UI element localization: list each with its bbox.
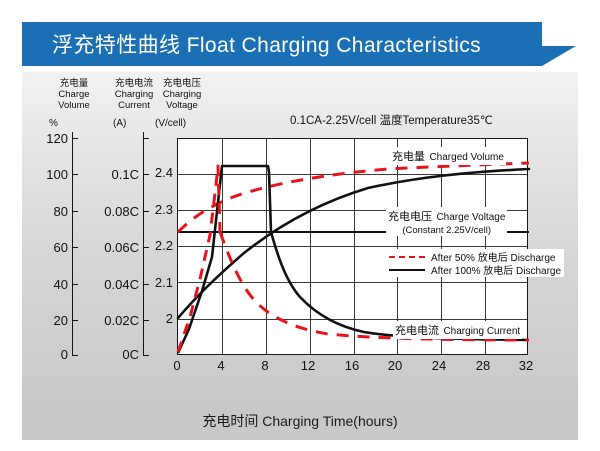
banner-body: 浮充特性曲线 Float Charging Characteristics [22, 22, 542, 66]
ytickmark-current-0C [143, 355, 149, 356]
annotation-charge-voltage-cn: 充电电压 [388, 211, 432, 223]
ytickmark-volume-80 [72, 211, 78, 212]
axis-head-volume-en2: Volume [40, 100, 108, 111]
ytickmark-volume-0 [72, 355, 78, 356]
legend-swatch-solid-icon [389, 269, 425, 271]
ytick-current-0.08C: 0.08C [85, 204, 139, 219]
annotation-charged-volume-en: Charged Volume [429, 152, 504, 163]
ytickmark-volume-20 [72, 320, 78, 321]
title-banner: 浮充特性曲线 Float Charging Characteristics [22, 22, 578, 66]
ytick-volume-100: 100 [32, 167, 68, 182]
ytick-volume-80: 80 [32, 204, 68, 219]
annotation-charge-voltage: 充电电压 Charge Voltage (Constant 2.25V/cell… [386, 207, 507, 236]
axis-unit-volume: % [49, 118, 58, 129]
chart-legend: After 50% 放电后 Discharge After 100% 放电后 D… [386, 249, 564, 277]
xtick-16: 16 [337, 358, 367, 373]
x-axis-title: 充电时间 Charging Time(hours) [22, 402, 578, 440]
axis-head-voltage-cn: 充电电压 [152, 78, 212, 89]
xtick-32: 32 [511, 358, 541, 373]
ytickmark-current-120 [143, 138, 149, 139]
banner-tail-shape [542, 46, 576, 66]
legend-swatch-dashed-icon [389, 256, 425, 258]
ytick-voltage-2.1: 2.1 [145, 275, 173, 290]
page-title: 浮充特性曲线 Float Charging Characteristics [22, 29, 481, 59]
xtick-20: 20 [380, 358, 410, 373]
ytickmark-volume-120 [72, 138, 78, 139]
legend-label-after-100: After 100% 放电后 Discharge [431, 262, 561, 277]
annotation-charge-voltage-en: Charge Voltage [436, 212, 505, 223]
ytick-volume-20: 20 [32, 313, 68, 328]
axis-head-voltage-en2: Voltage [152, 100, 212, 111]
xtick-28: 28 [468, 358, 498, 373]
axis-head-voltage-en1: Charging [152, 89, 212, 100]
axis-head-volume-cn: 充电量 [40, 78, 108, 89]
xtick-0: 0 [162, 358, 192, 373]
condition-note: 0.1CA-2.25V/cell 温度Temperature35℃ [290, 112, 493, 128]
ytick-voltage-2.2: 2.2 [145, 238, 173, 253]
annotation-charging-current: 充电电流 Charging Current [393, 321, 522, 339]
y-axis-volume-ruler [72, 132, 73, 356]
ytick-current-0.02C: 0.02C [85, 313, 139, 328]
ytick-volume-40: 40 [32, 277, 68, 292]
ytickmark-volume-60 [72, 247, 78, 248]
annotation-charging-current-cn: 充电电流 [395, 325, 439, 337]
y-axis-current-ruler [143, 132, 144, 356]
axis-unit-current: (A) [113, 118, 126, 129]
curve-charged-volume-100 [178, 169, 529, 318]
xtick-8: 8 [250, 358, 280, 373]
ytick-voltage-2.3: 2.3 [145, 202, 173, 217]
ytick-volume-120: 120 [32, 131, 68, 146]
curve-charging-voltage-50 [178, 166, 228, 352]
xtick-12: 12 [293, 358, 323, 373]
ytick-current-0C: 0C [85, 347, 139, 362]
annotation-charging-current-en: Charging Current [443, 326, 520, 337]
ytickmark-volume-100 [72, 174, 78, 175]
xtick-4: 4 [206, 358, 236, 373]
legend-item-after-100: After 100% 放电后 Discharge [389, 263, 561, 276]
axis-head-volume: 充电量 Charge Volume [40, 78, 108, 111]
ytick-voltage-2.4: 2.4 [145, 165, 173, 180]
ytick-current-0.1C: 0.1C [85, 167, 139, 182]
ytick-volume-0: 0 [32, 347, 68, 362]
ytick-volume-60: 60 [32, 240, 68, 255]
annotation-charged-volume: 充电量 Charged Volume [390, 147, 506, 165]
axis-head-volume-en1: Charge [40, 89, 108, 100]
ytickmark-volume-40 [72, 284, 78, 285]
curve-charging-voltage-100 [178, 166, 271, 353]
ytick-current-0.06C: 0.06C [85, 240, 139, 255]
chart-page: 浮充特性曲线 Float Charging Characteristics 充电… [0, 0, 600, 451]
annotation-charged-volume-cn: 充电量 [392, 151, 425, 163]
plot-area: 充电量 Charged Volume 充电电压 Charge Voltage (… [177, 138, 528, 355]
ytick-voltage-2.0: 2 [145, 311, 173, 326]
annotation-charge-voltage-sub: (Constant 2.25V/cell) [388, 225, 505, 236]
xtick-24: 24 [424, 358, 454, 373]
axis-unit-voltage: (V/cell) [155, 118, 186, 129]
ytick-current-0.04C: 0.04C [85, 277, 139, 292]
axis-head-voltage: 充电电压 Charging Voltage [152, 78, 212, 111]
